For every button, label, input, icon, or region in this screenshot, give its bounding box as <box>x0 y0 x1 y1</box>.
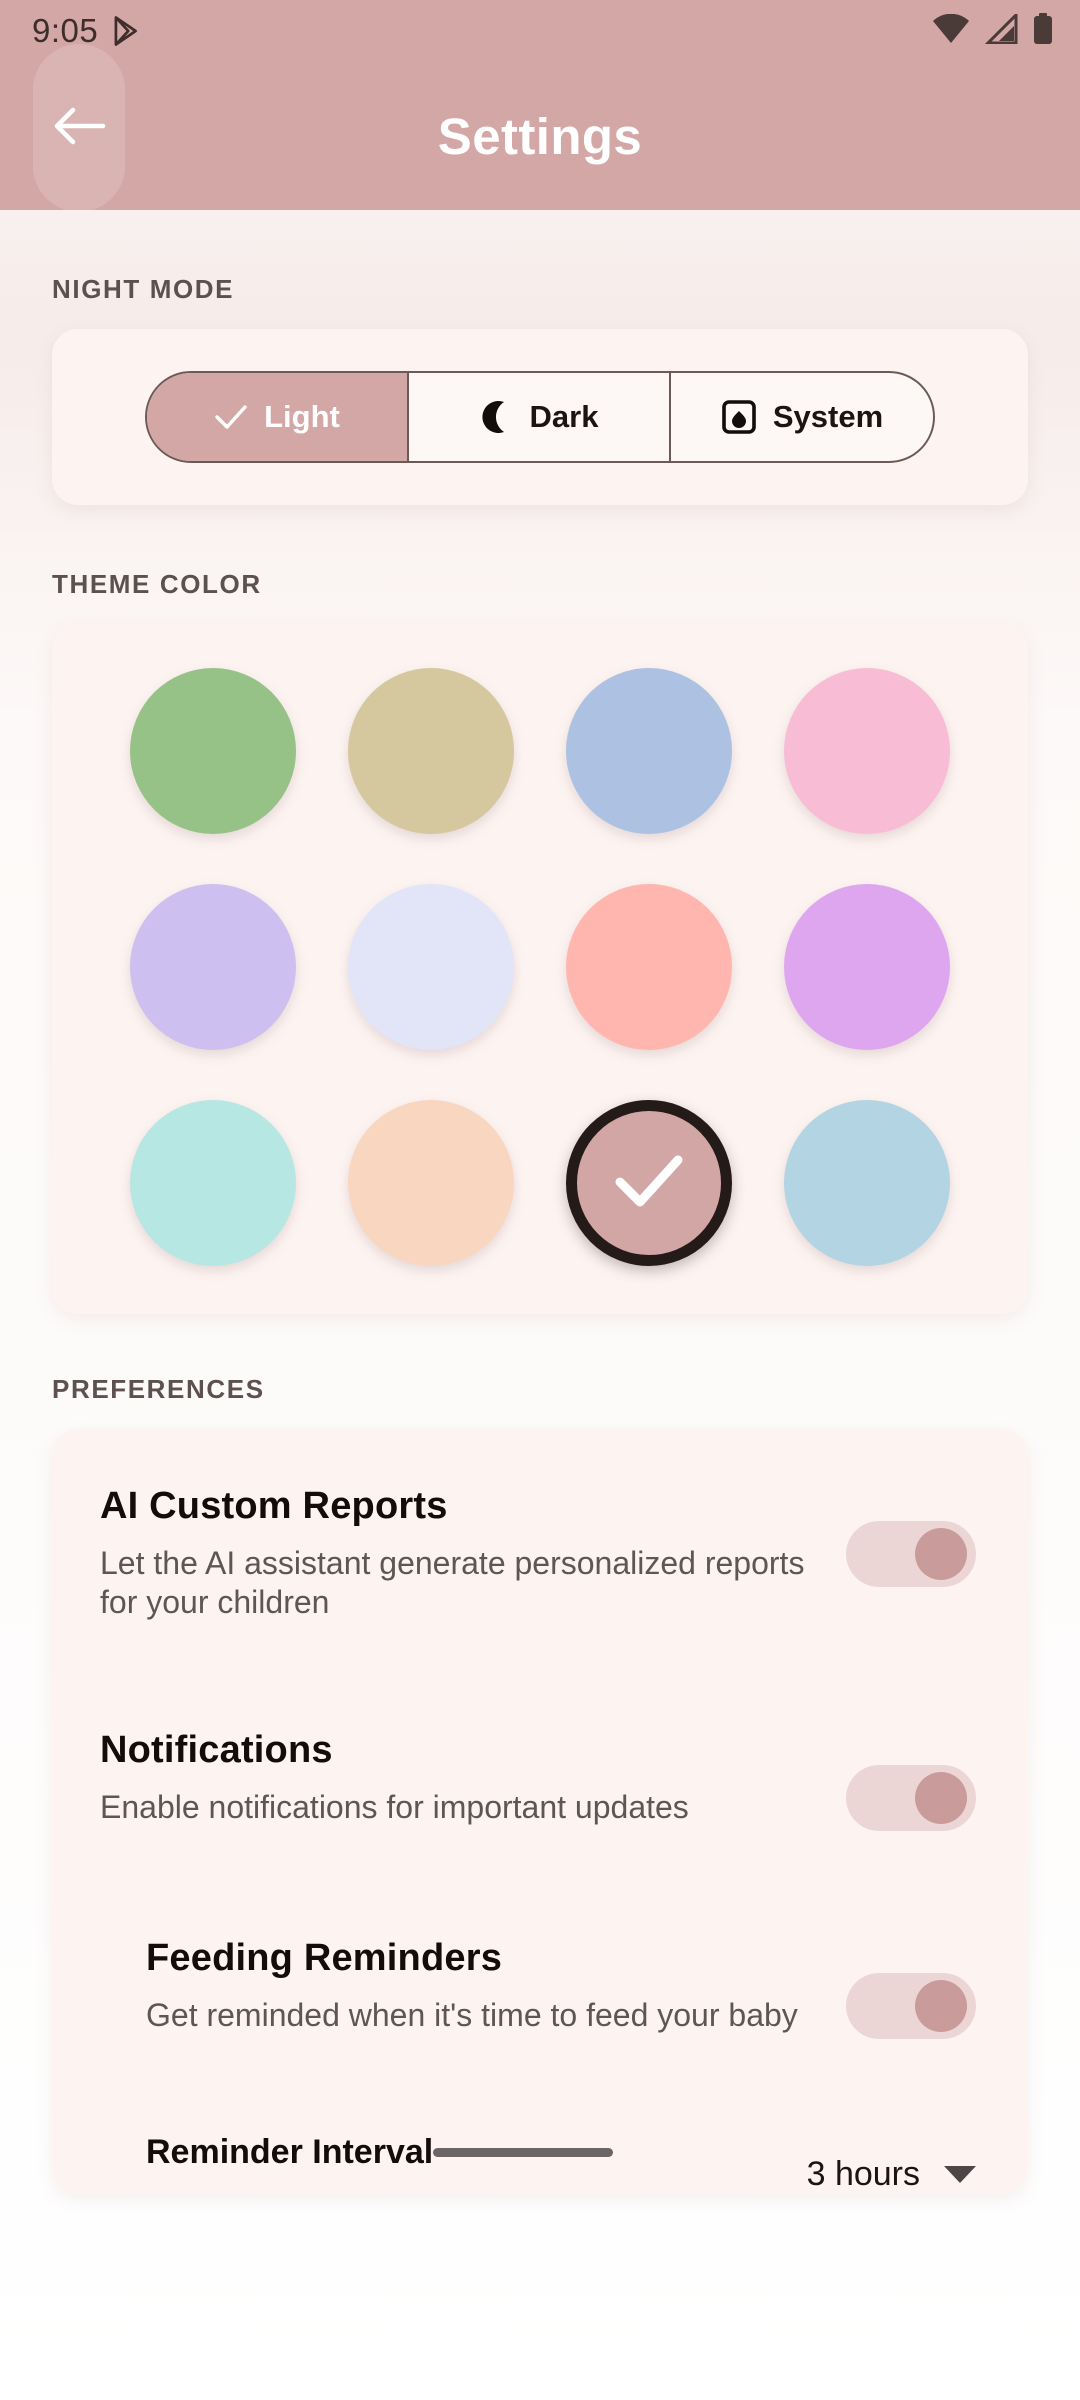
check-icon <box>614 1152 684 1215</box>
toggle-ai-custom-reports[interactable] <box>846 1521 976 1587</box>
night-mode-option-system[interactable]: System <box>671 373 933 461</box>
color-swatch-peach[interactable] <box>348 1100 514 1266</box>
preference-texts: AI Custom Reports Let the AI assistant g… <box>100 1485 846 1623</box>
toggle-knob <box>915 1772 967 1824</box>
preference-description: Get reminded when it's time to feed your… <box>146 1996 818 2035</box>
preference-title: Notifications <box>100 1729 818 1772</box>
color-swatch-khaki[interactable] <box>348 668 514 834</box>
preference-title: Feeding Reminders <box>146 1937 818 1980</box>
color-swatch-dusty-rose[interactable] <box>566 1100 732 1266</box>
toggle-knob <box>915 1980 967 2032</box>
color-swatch-pink[interactable] <box>784 668 950 834</box>
battery-icon <box>1032 13 1054 50</box>
preference-description: Enable notifications for important updat… <box>100 1788 818 1827</box>
color-swatch-orchid[interactable] <box>784 884 950 1050</box>
night-mode-option-light[interactable]: Light <box>147 373 409 461</box>
preference-texts: Notifications Enable notifications for i… <box>100 1729 846 1827</box>
back-button[interactable] <box>33 44 125 212</box>
section-label-night-mode: NIGHT MODE <box>52 210 1028 329</box>
settings-scroll-area[interactable]: NIGHT MODE Light Dark <box>0 210 1080 2194</box>
cellular-signal-icon <box>984 14 1018 49</box>
phone-screen-icon <box>721 399 757 435</box>
preference-title: AI Custom Reports <box>100 1485 818 1528</box>
preference-row-ai-custom-reports[interactable]: AI Custom Reports Let the AI assistant g… <box>52 1429 1028 1673</box>
section-label-theme-color: THEME COLOR <box>52 505 1028 624</box>
reminder-interval-dropdown[interactable]: 3 hours <box>807 2111 976 2194</box>
color-swatch-sky[interactable] <box>784 1100 950 1266</box>
preference-row-feeding-reminders[interactable]: Feeding Reminders Get reminded when it's… <box>52 1881 1028 2089</box>
check-icon <box>214 403 248 431</box>
color-swatch-salmon[interactable] <box>566 884 732 1050</box>
section-label-preferences: PREFERENCES <box>52 1314 1028 1429</box>
preferences-card: AI Custom Reports Let the AI assistant g… <box>52 1429 1028 2194</box>
arrow-left-icon <box>52 105 106 152</box>
preference-description: Let the AI assistant generate personaliz… <box>100 1544 818 1623</box>
app-bar: Settings <box>0 62 1080 210</box>
theme-color-grid[interactable] <box>104 668 976 1266</box>
reminder-interval-label: Reminder Interval <box>146 2133 433 2172</box>
toggle-feeding-reminders[interactable] <box>846 1973 976 2039</box>
color-swatch-lavender[interactable] <box>130 884 296 1050</box>
color-swatch-periwinkle[interactable] <box>348 884 514 1050</box>
night-mode-option-system-label: System <box>773 399 883 435</box>
chevron-down-icon <box>944 2166 976 2183</box>
night-mode-option-light-label: Light <box>264 399 340 435</box>
toggle-notifications[interactable] <box>846 1765 976 1831</box>
wifi-icon <box>932 14 970 49</box>
moon-icon <box>480 400 514 434</box>
preference-texts: Feeding Reminders Get reminded when it's… <box>146 1937 846 2035</box>
reminder-interval-value: 3 hours <box>807 2155 920 2194</box>
color-swatch-green[interactable] <box>130 668 296 834</box>
night-mode-option-dark-label: Dark <box>530 399 599 435</box>
night-mode-option-dark[interactable]: Dark <box>409 373 671 461</box>
night-mode-segmented-control[interactable]: Light Dark System <box>145 371 935 463</box>
theme-color-card <box>52 624 1028 1314</box>
color-swatch-blue[interactable] <box>566 668 732 834</box>
reminder-interval-rule <box>433 2148 613 2157</box>
preference-row-notifications[interactable]: Notifications Enable notifications for i… <box>52 1673 1028 1881</box>
page-title: Settings <box>0 107 1080 166</box>
play-store-icon <box>112 15 142 47</box>
status-bar: 9:05 <box>0 0 1080 62</box>
reminder-interval-row[interactable]: Reminder Interval 3 hours <box>52 2089 1028 2194</box>
color-swatch-mint[interactable] <box>130 1100 296 1266</box>
status-bar-icons <box>932 13 1054 50</box>
toggle-knob <box>915 1528 967 1580</box>
night-mode-card: Light Dark System <box>52 329 1028 505</box>
